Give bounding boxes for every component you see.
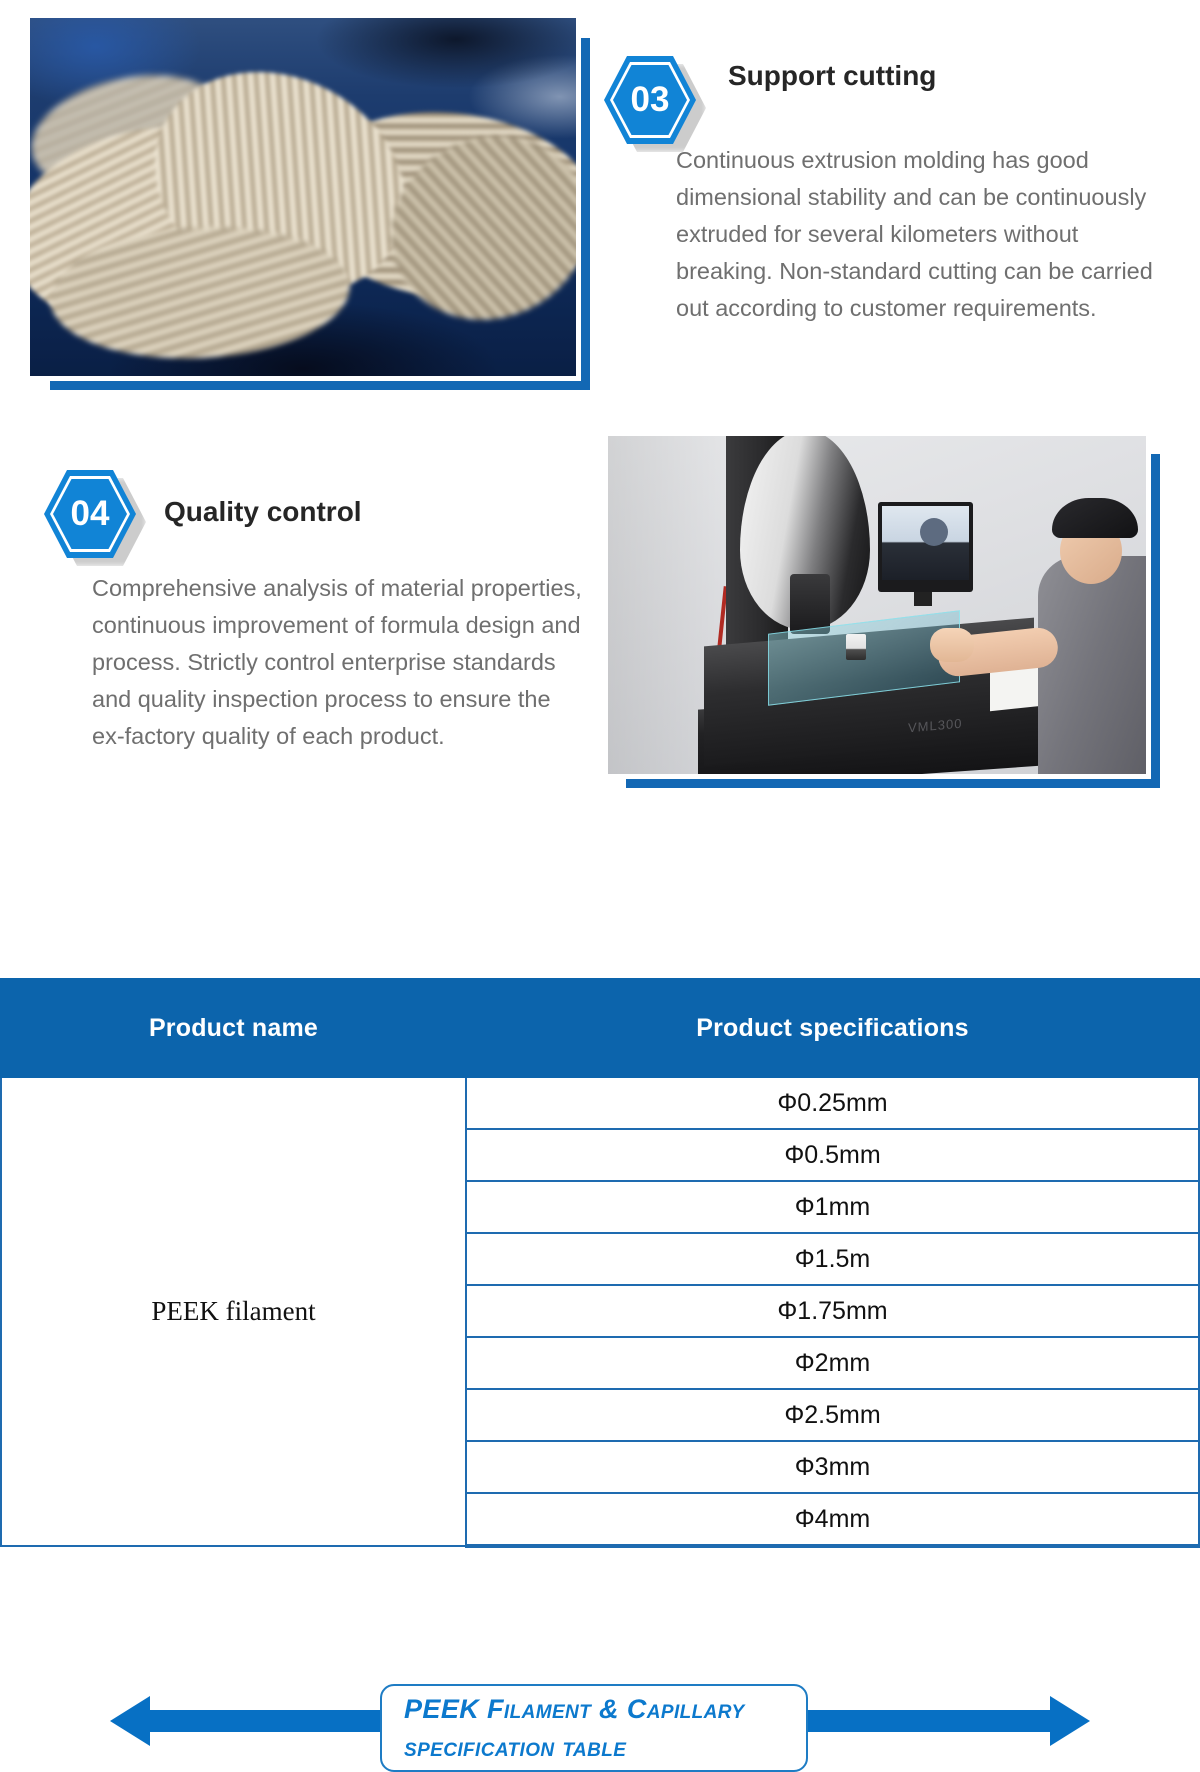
cell-product-specification: Φ1.5m [466, 1233, 1199, 1285]
cell-product-specification: Φ2.5mm [466, 1389, 1199, 1441]
table-head: Product name Product specifications [1, 979, 1199, 1077]
step-badge-03: 03 [604, 56, 696, 144]
cell-product-specification: Φ3mm [466, 1441, 1199, 1493]
cell-product-specification: Φ0.25mm [466, 1077, 1199, 1129]
section-body-quality-control: Comprehensive analysis of material prope… [92, 570, 582, 755]
table-body: PEEK filamentΦ0.25mmΦ0.5mmΦ1mmΦ1.5mΦ1.75… [1, 1077, 1199, 1546]
sample-cup [846, 634, 866, 660]
operator-hand [930, 628, 974, 662]
section-body-support-cutting: Continuous extrusion molding has good di… [676, 142, 1170, 327]
arrow-left-icon [110, 1696, 150, 1746]
peek-rods-photo-frame [30, 18, 590, 390]
cell-product-name: PEEK filament [1, 1077, 466, 1546]
table-header-row: Product name Product specifications [1, 979, 1199, 1077]
quality-inspection-photo-frame: VML300 [608, 436, 1160, 788]
cell-product-specification: Φ0.5mm [466, 1129, 1199, 1181]
cell-product-specification: Φ1mm [466, 1181, 1199, 1233]
photo-frame-accent-bottom [626, 779, 1160, 788]
photo-frame-accent-bottom [50, 381, 590, 390]
step-number-04: 04 [44, 470, 136, 558]
quality-inspection-photo: VML300 [608, 436, 1146, 774]
monitor-screen [882, 506, 969, 580]
banner-title-box: PEEK Filament & Capillary specification … [380, 1684, 808, 1772]
banner-title-line-2: specification table [404, 1728, 806, 1766]
step-badge-04: 04 [44, 470, 136, 558]
spec-table-banner: PEEK Filament & Capillary specification … [0, 838, 1200, 950]
cell-product-specification: Φ2mm [466, 1337, 1199, 1389]
column-header-product-specifications: Product specifications [466, 979, 1199, 1077]
photo-frame-accent-right [581, 38, 590, 390]
step-number-03: 03 [604, 56, 696, 144]
specification-table: Product name Product specifications PEEK… [0, 978, 1200, 1548]
column-header-product-name: Product name [1, 979, 466, 1077]
table-row: PEEK filamentΦ0.25mm [1, 1077, 1199, 1129]
banner-title-line-1: PEEK Filament & Capillary [404, 1690, 806, 1728]
monitor-stand [914, 592, 932, 606]
photo-frame-accent-right [1151, 454, 1160, 788]
camera-lens [790, 574, 830, 634]
cell-product-specification: Φ4mm [466, 1493, 1199, 1546]
section-title-support-cutting: Support cutting [728, 60, 936, 92]
section-title-quality-control: Quality control [164, 496, 362, 528]
operator-body [1038, 556, 1146, 774]
peek-rods-photo [30, 18, 576, 376]
arrow-right-icon [1050, 1696, 1090, 1746]
cell-product-specification: Φ1.75mm [466, 1285, 1199, 1337]
